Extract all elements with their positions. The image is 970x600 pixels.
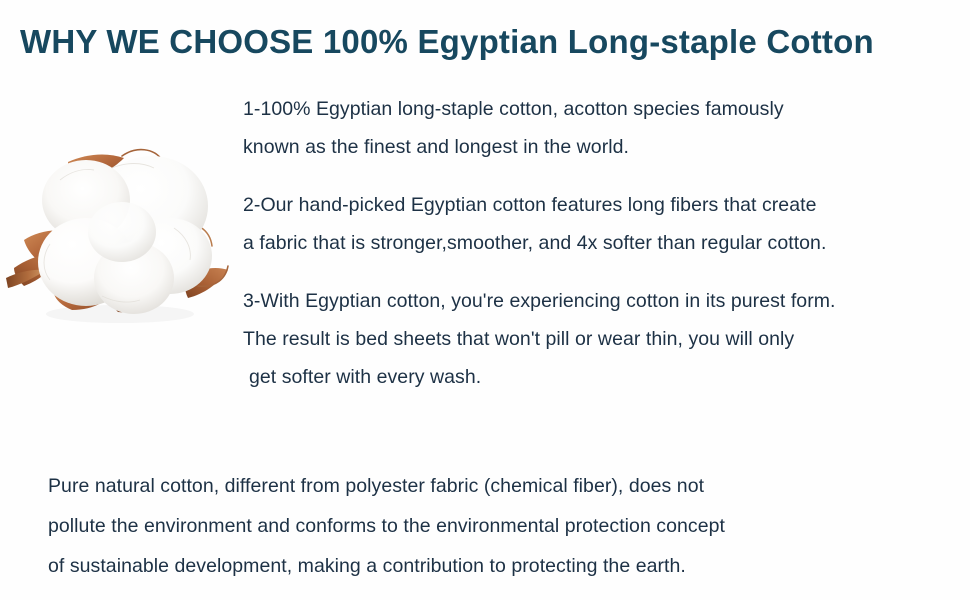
point-3-line-3-underlined: get softer with every wash. [249,366,481,390]
feature-points-block: 1-100% Egyptian long-staple cotton, acot… [243,90,970,396]
point-2-line-2-plain: a fabric that is [243,232,371,254]
point-3-line-1-plain: 3-With Egyptian cotton, you're experienc… [243,290,836,312]
cotton-boll-image [2,128,242,333]
point-1-line-2-plain: known [243,136,305,158]
feature-point-1: 1-100% Egyptian long-staple cotton, acot… [243,90,970,166]
cotton-boll-illustration [2,128,242,333]
closing-line-1: Pure natural cotton, different from poly… [48,475,704,497]
point-1-line-2-underlined: as the finest and longest in the world. [305,136,629,160]
closing-line-2: pollute the environment and conforms to … [48,515,725,537]
point-1-line-1-plain: 1-100% Egyptian long-staple cotton, acot… [243,98,784,120]
point-2-line-2-underlined: stronger,smoother, and 4x softer than re… [371,232,827,256]
feature-point-3: 3-With Egyptian cotton, you're experienc… [243,282,970,396]
point-3-line-2-underlined: won't pill or wear thin, you will only [495,328,794,352]
page-title: WHY WE CHOOSE 100% Egyptian Long-staple … [20,22,955,62]
closing-line-3-plain: of sustainable development, [48,555,298,577]
closing-line-3-underlined: making a contribution to protecting the … [298,555,686,579]
closing-block: Pure natural cotton, different from poly… [48,466,960,586]
point-3-line-2-plain: The result is bed sheets that [243,328,495,350]
point-2-line-1-plain: 2-Our hand-picked Egyptian cotton featur… [243,194,816,216]
cotton-lobe-center [88,202,156,262]
closing-paragraph: Pure natural cotton, different from poly… [48,466,960,586]
marketing-banner: WHY WE CHOOSE 100% Egyptian Long-staple … [0,0,970,600]
feature-point-2: 2-Our hand-picked Egyptian cotton featur… [243,186,970,262]
